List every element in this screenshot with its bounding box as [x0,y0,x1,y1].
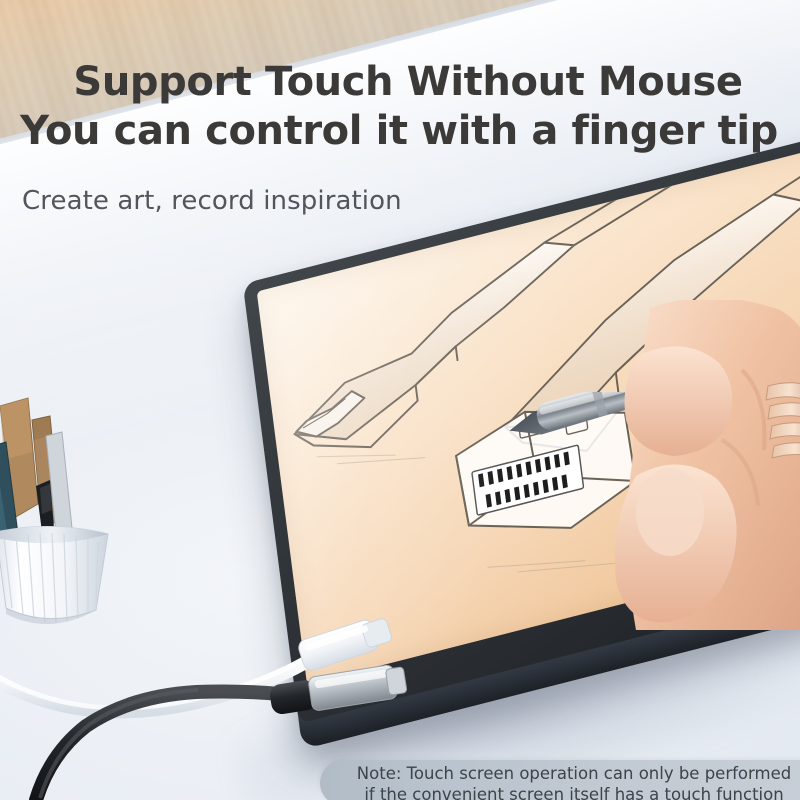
index-finger [625,346,733,456]
cables-illustration [0,520,560,800]
note-banner: Note: Touch screen operation can only be… [320,760,800,800]
page-title: Support Touch Without Mouse You can cont… [0,62,800,151]
hand-holding-stylus [592,300,800,630]
product-marketing-image: Support Touch Without Mouse You can cont… [0,0,800,800]
headline-line-1: Support Touch Without Mouse [0,62,800,102]
headline-line-2: You can control it with a finger tip [0,111,800,151]
hand-illustration [592,300,800,630]
cables-group [0,520,560,800]
white-connector [297,614,394,673]
note-line-2: if the convenient screen itself has a to… [346,784,800,800]
subtitle: Create art, record inspiration [22,186,402,216]
fingernail [636,468,704,556]
note-line-1: Note: Touch screen operation can only be… [346,763,800,784]
